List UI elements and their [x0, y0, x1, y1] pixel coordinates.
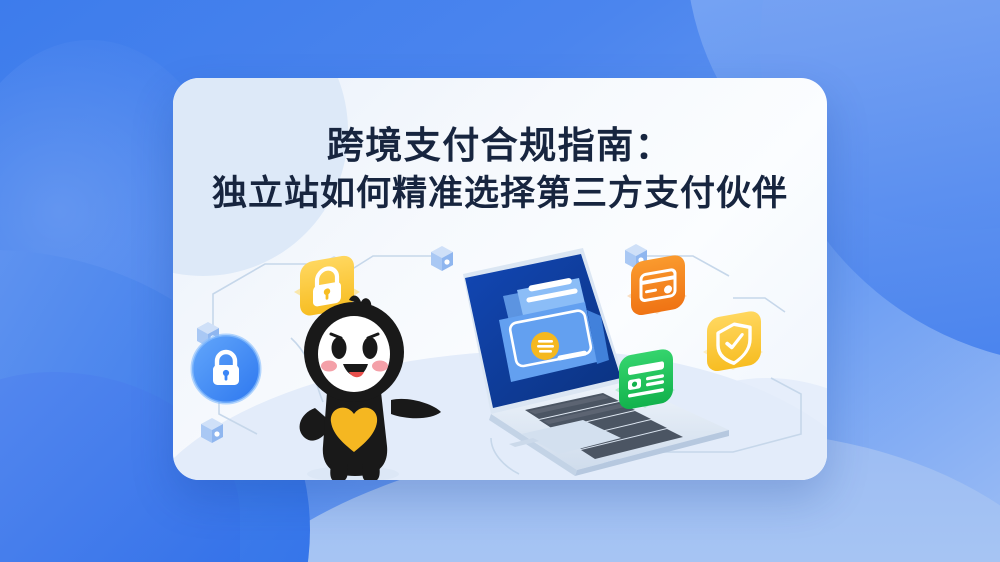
shield-cube-icon [703, 309, 763, 373]
title-line-2: 独立站如何精准选择第三方支付伙伴 [173, 173, 827, 217]
banner-canvas: 跨境支付合规指南： 独立站如何精准选择第三方支付伙伴 [0, 0, 1000, 562]
illustration [173, 238, 827, 480]
list-cube-icon [615, 347, 675, 411]
penguin-mascot [300, 296, 441, 480]
page-title: 跨境支付合规指南： 独立站如何精准选择第三方支付伙伴 [173, 124, 827, 216]
content-card: 跨境支付合规指南： 独立站如何精准选择第三方支付伙伴 [173, 78, 827, 480]
laptop [463, 248, 729, 476]
title-line-1: 跨境支付合规指南： [173, 124, 827, 168]
lock-badge-icon [192, 335, 260, 403]
